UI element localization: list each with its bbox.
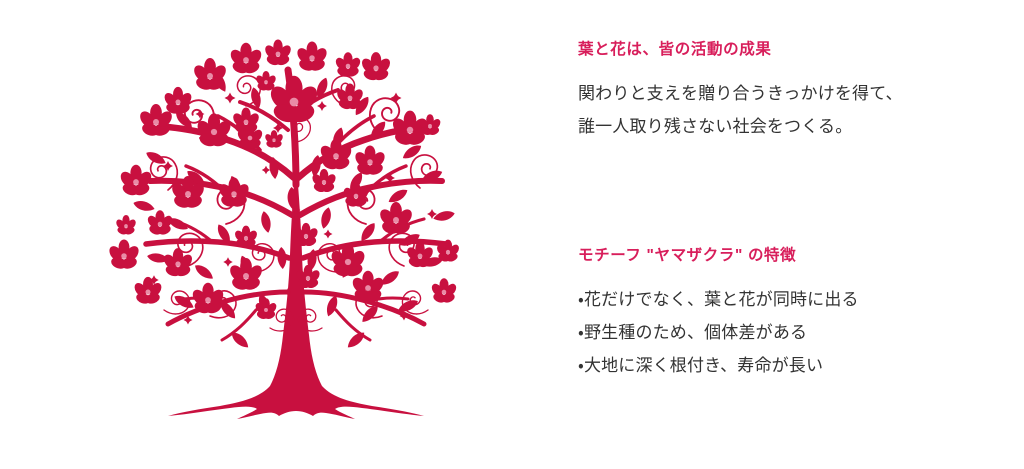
section-mission: 葉と花は、皆の活動の成果 関わりと支えを贈り合うきっかけを得て、 誰一人取り残さ… bbox=[578, 38, 988, 144]
cherry-blossom-tree-illustration bbox=[60, 10, 530, 460]
list-item: ・花だけでなく、葉と花が同時に出る bbox=[578, 283, 988, 316]
section-mission-heading: 葉と花は、皆の活動の成果 bbox=[578, 38, 988, 61]
list-item: ・大地に深く根付き、寿命が長い bbox=[578, 349, 988, 382]
motif-feature-list: ・花だけでなく、葉と花が同時に出る ・野生種のため、個体差がある ・大地に深く根… bbox=[578, 283, 988, 382]
section-mission-line-1: 関わりと支えを贈り合うきっかけを得て、 bbox=[578, 77, 988, 110]
list-item: ・野生種のため、個体差がある bbox=[578, 316, 988, 349]
section-mission-line-2: 誰一人取り残さない社会をつくる。 bbox=[578, 110, 988, 143]
text-column: 葉と花は、皆の活動の成果 関わりと支えを贈り合うきっかけを得て、 誰一人取り残さ… bbox=[578, 38, 988, 382]
section-motif-heading: モチーフ "ヤマザクラ" の特徴 bbox=[578, 244, 988, 267]
slide-canvas: 葉と花は、皆の活動の成果 関わりと支えを贈り合うきっかけを得て、 誰一人取り残さ… bbox=[0, 0, 1024, 469]
section-motif: モチーフ "ヤマザクラ" の特徴 ・花だけでなく、葉と花が同時に出る ・野生種の… bbox=[578, 244, 988, 383]
